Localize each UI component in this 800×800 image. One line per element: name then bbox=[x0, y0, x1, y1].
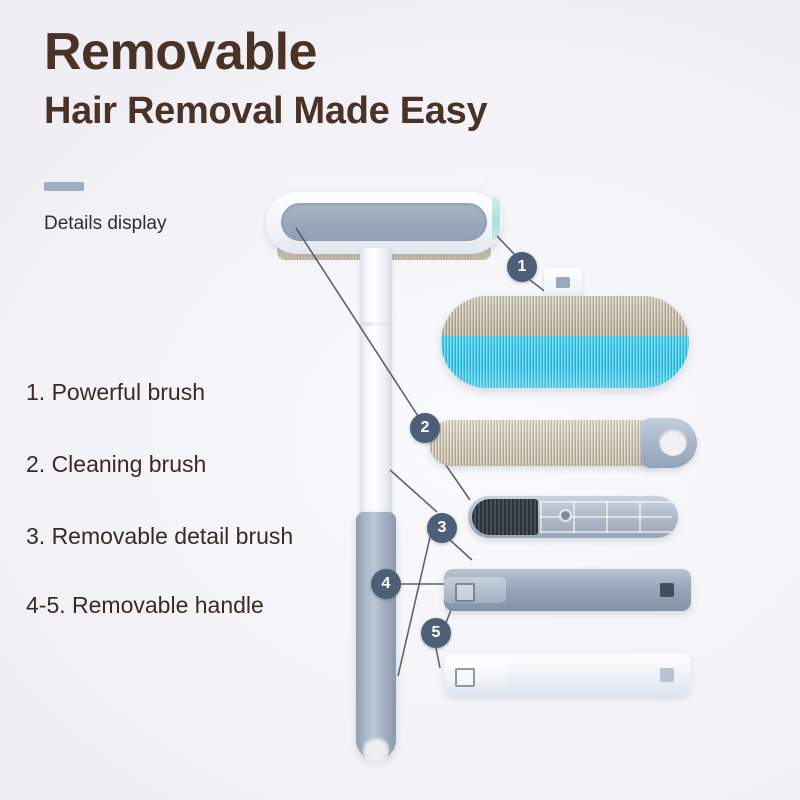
part-1-cyan-bristles bbox=[441, 336, 689, 388]
part-2-ring-hole bbox=[659, 428, 687, 456]
handle-lower-segment bbox=[356, 512, 396, 760]
part-4-end-slot bbox=[660, 583, 674, 597]
part-1-beige-bristles bbox=[441, 296, 689, 336]
part-5-connector-tab bbox=[455, 668, 475, 687]
handle-seam bbox=[360, 322, 392, 326]
part-4-neck bbox=[444, 577, 506, 603]
part-1-pad bbox=[441, 296, 689, 388]
part-3-black-bristles bbox=[472, 499, 538, 535]
callout-badge-5: 5 bbox=[421, 618, 451, 648]
part-4-connector-tab bbox=[455, 583, 475, 602]
part-5-neck bbox=[444, 662, 506, 688]
brush-head-teal-edge bbox=[492, 196, 500, 240]
part-3-center-hole bbox=[561, 511, 570, 520]
brush-head-panel bbox=[281, 203, 487, 241]
callout-badge-3: 3 bbox=[427, 513, 457, 543]
callout-badge-4: 4 bbox=[371, 569, 401, 599]
part-3-body bbox=[468, 496, 678, 538]
handle-hanging-hole bbox=[363, 736, 389, 762]
handle-upper-segment bbox=[360, 248, 392, 520]
part-3-rib-grid bbox=[540, 501, 672, 533]
product-infographic: Removable Hair Removal Made Easy Details… bbox=[0, 0, 800, 800]
part-2-bristle-strip bbox=[429, 420, 657, 466]
callout-badge-1: 1 bbox=[507, 252, 537, 282]
part-5-end-slot bbox=[660, 668, 674, 682]
part-1-clip-square bbox=[556, 277, 570, 288]
callout-badge-2: 2 bbox=[410, 413, 440, 443]
